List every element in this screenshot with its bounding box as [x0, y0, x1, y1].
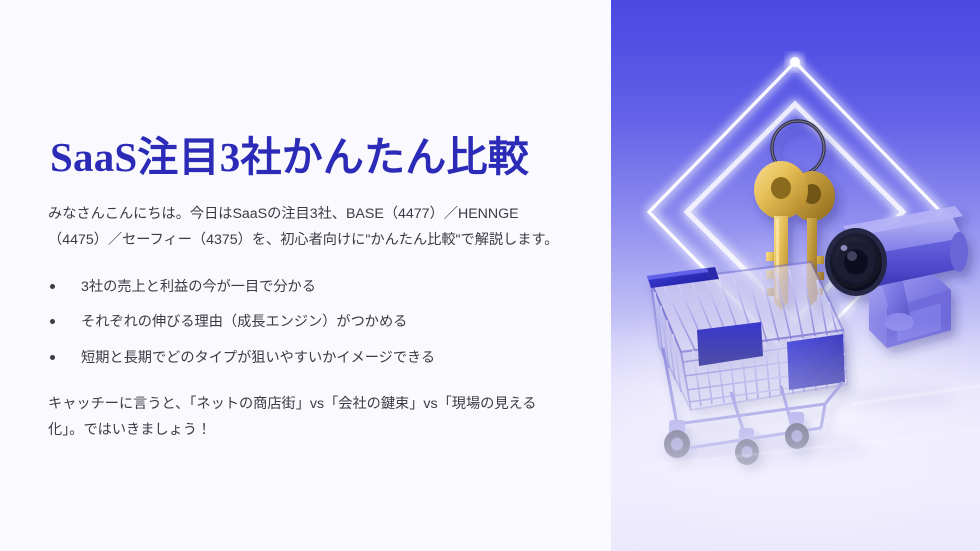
list-item: それぞれの伸びる理由（成長エンジン）がつかめる [48, 312, 578, 333]
diamond-apex-sparkle [790, 57, 800, 67]
cart-front-panel [787, 334, 845, 390]
bullet-dot-icon [50, 355, 55, 360]
slide-canvas: SaaS注目3社かんたん比較 みなさんこんにちは。今日はSaaSの注目3社、BA… [0, 0, 980, 551]
list-item-label: 短期と長期でどのタイプが狙いやすいかイメージできる [81, 350, 435, 366]
list-item-label: 3社の売上と利益の今が一目で分かる [81, 279, 316, 295]
illustration-svg [611, 0, 980, 551]
text-column: SaaS注目3社かんたん比較 みなさんこんにちは。今日はSaaSの注目3社、BA… [0, 0, 611, 551]
list-item: 3社の売上と利益の今が一目で分かる [48, 277, 578, 298]
closing-paragraph: キャッチーに言うと、「ネットの商店街」vs「会社の鍵束」vs「現場の見える化」。… [48, 392, 570, 444]
list-item: 短期と長期でどのタイプが狙いやすいかイメージできる [48, 348, 578, 369]
bullet-dot-icon [50, 319, 55, 324]
bullet-dot-icon [50, 284, 55, 289]
cart-wheel [664, 420, 690, 458]
benefit-list: 3社の売上と利益の今が一目で分かる それぞれの伸びる理由（成長エンジン）がつかめ… [48, 277, 578, 369]
illustration-scene [611, 0, 980, 551]
security-camera [825, 206, 968, 348]
camera-lens [825, 228, 887, 296]
cart-basket [651, 262, 847, 410]
list-item-label: それぞれの伸びる理由（成長エンジン）がつかめる [81, 314, 407, 330]
page-title: SaaS注目3社かんたん比較 [50, 135, 529, 181]
illustration-panel [611, 0, 980, 551]
lead-paragraph: みなさんこんにちは。今日はSaaSの注目3社、BASE（4477）／HENNGE… [48, 202, 570, 254]
